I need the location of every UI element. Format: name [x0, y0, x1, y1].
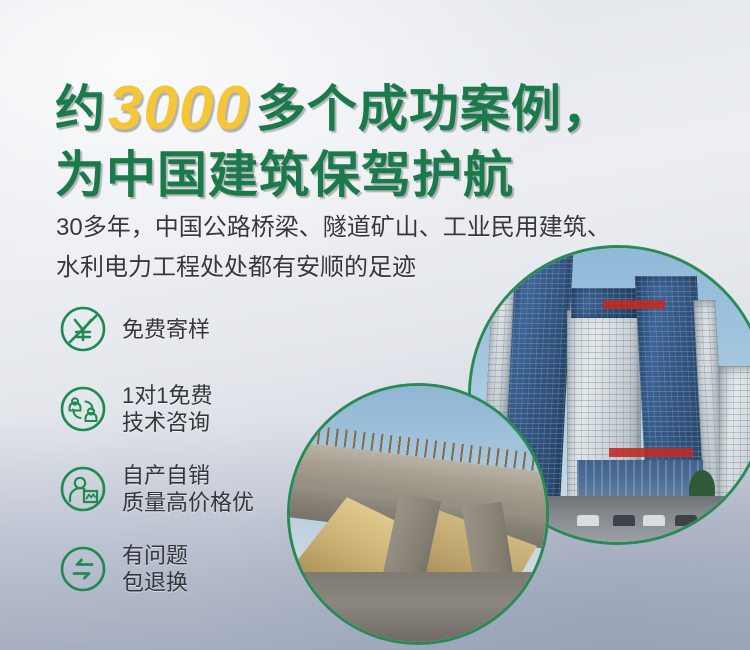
feature-label-free-sample: 免费寄样: [122, 316, 210, 343]
construction-ground: [290, 572, 546, 642]
exchange-return-icon: [58, 544, 108, 594]
tower-far-right: [719, 366, 750, 514]
one-on-one-consult-icon: [58, 384, 108, 434]
feature-item-free-sample[interactable]: 免费寄样: [58, 298, 358, 360]
feature-label-consultation: 1对1免费 技术咨询: [122, 382, 212, 436]
parked-car: [613, 515, 635, 526]
promo-banner: 约3000多个成功案例， 为中国建筑保驾护航 30多年，中国公路桥梁、隧道矿山、…: [0, 0, 750, 650]
headline: 约3000多个成功案例， 为中国建筑保驾护航: [55, 78, 613, 200]
headline-line-2: 为中国建筑保驾护航: [55, 150, 613, 200]
self-produced-quality-icon: [58, 464, 108, 514]
feature-label-returns: 有问题 包退换: [122, 542, 188, 596]
parked-car: [643, 515, 665, 526]
no-fee-icon: [58, 304, 108, 354]
bridge-photo: [287, 383, 549, 645]
headline-number: 3000: [106, 74, 256, 143]
headline-line-1: 约3000多个成功案例，: [55, 78, 613, 140]
headline-suffix: 多个成功案例，: [256, 81, 613, 137]
roof-sign-top: [603, 300, 665, 309]
headline-prefix: 约: [55, 81, 106, 137]
bridge-scene: [290, 386, 546, 642]
roof-sign-podium: [609, 448, 693, 457]
subtitle-line-1: 30多年，中国公路桥梁、隧道矿山、工业民用建筑、: [56, 208, 611, 248]
feature-label-quality: 自产自销 质量高价格优: [122, 462, 254, 516]
parked-car: [675, 515, 697, 526]
parked-car: [577, 515, 599, 526]
